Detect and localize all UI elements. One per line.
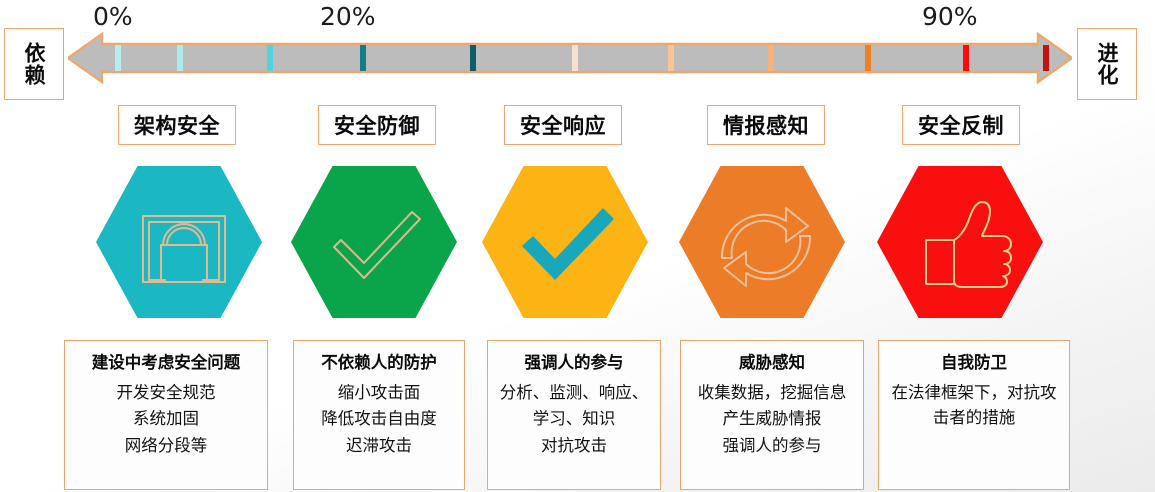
stage-description-title: 强调人的参与	[492, 351, 656, 376]
hexagon-shape	[482, 166, 648, 318]
stage-description-title: 自我防卫	[883, 351, 1065, 376]
tick-mark	[668, 45, 674, 71]
stage-description-title: 建设中考虑安全问题	[69, 351, 263, 376]
hexagon-shape	[679, 166, 845, 318]
stage-description-box: 强调人的参与分析、监测、响应、学习、知识对抗攻击	[487, 340, 661, 490]
stage-hexagon[interactable]	[877, 166, 1043, 318]
stage-description-line: 收集数据，挖掘信息	[685, 380, 859, 407]
stage-category-label: 安全防御	[334, 110, 420, 140]
stage-description-line: 开发安全规范	[69, 380, 263, 407]
maturity-axis-arrow	[68, 32, 1072, 84]
stage-description-box: 威胁感知收集数据，挖掘信息产生威胁情报强调人的参与	[680, 340, 864, 490]
tick-mark	[360, 45, 366, 71]
percent-label: 20%	[320, 2, 376, 31]
percent-label: 0%	[93, 2, 133, 31]
stage-category-label: 安全响应	[520, 110, 606, 140]
stage-description-title: 不依赖人的防护	[298, 351, 460, 376]
stage-description-line: 对抗攻击	[492, 433, 656, 460]
axis-cap-evolution-label: 进化	[1096, 42, 1118, 86]
hexagon-shape	[877, 166, 1043, 318]
axis-cap-dependency: 依赖	[4, 28, 64, 100]
stage-description-line: 学习、知识	[492, 406, 656, 433]
tick-mark	[470, 45, 476, 71]
stage-description-line: 击者的措施	[883, 405, 1065, 431]
stage-description-line: 网络分段等	[69, 433, 263, 460]
stage-description-line: 分析、监测、响应、	[492, 380, 656, 407]
tick-mark	[768, 45, 774, 71]
stage-description-line: 迟滞攻击	[298, 433, 460, 460]
tick-mark	[115, 45, 121, 71]
tick-mark	[572, 45, 578, 71]
stage-category-box[interactable]: 情报感知	[707, 105, 825, 145]
tick-mark	[267, 45, 273, 71]
stage-description-line: 产生威胁情报	[685, 406, 859, 433]
stage-hexagon[interactable]	[96, 166, 262, 318]
stage-description-line: 强调人的参与	[685, 433, 859, 460]
arrow-shape	[68, 32, 1072, 84]
stage-category-box[interactable]: 架构安全	[118, 105, 236, 145]
stage-category-label: 架构安全	[134, 110, 220, 140]
hexagon-shape	[96, 166, 262, 318]
hexagon-shape	[291, 166, 457, 318]
percent-label: 90%	[922, 2, 978, 31]
stage-description-box: 不依赖人的防护缩小攻击面降低攻击自由度迟滞攻击	[293, 340, 465, 490]
stage-category-label: 情报感知	[723, 110, 809, 140]
stage-category-box[interactable]: 安全响应	[504, 105, 622, 145]
tick-mark	[963, 45, 969, 71]
stage-hexagon[interactable]	[291, 166, 457, 318]
diagram-canvas: 0%20%90% 依赖 进化 架构安全 建设中考虑安全问题	[0, 0, 1155, 492]
tick-mark	[865, 45, 871, 71]
tick-mark	[1043, 45, 1049, 71]
stage-category-box[interactable]: 安全反制	[902, 105, 1020, 145]
stage-description-box: 自我防卫在法律框架下，对抗攻击者的措施	[878, 340, 1070, 490]
stage-description-box: 建设中考虑安全问题开发安全规范系统加固网络分段等	[64, 340, 268, 490]
stage-hexagon[interactable]	[679, 166, 845, 318]
stage-hexagon[interactable]	[482, 166, 648, 318]
stage-category-label: 安全反制	[918, 110, 1004, 140]
stage-description-title: 威胁感知	[685, 351, 859, 376]
stage-description-line: 系统加固	[69, 406, 263, 433]
tick-mark	[177, 45, 183, 71]
stage-description-line: 缩小攻击面	[298, 380, 460, 407]
stage-description-line: 在法律框架下，对抗攻	[883, 380, 1065, 406]
stage-description-line: 降低攻击自由度	[298, 406, 460, 433]
axis-cap-dependency-label: 依赖	[23, 42, 45, 86]
stage-category-box[interactable]: 安全防御	[318, 105, 436, 145]
axis-cap-evolution: 进化	[1077, 28, 1137, 100]
